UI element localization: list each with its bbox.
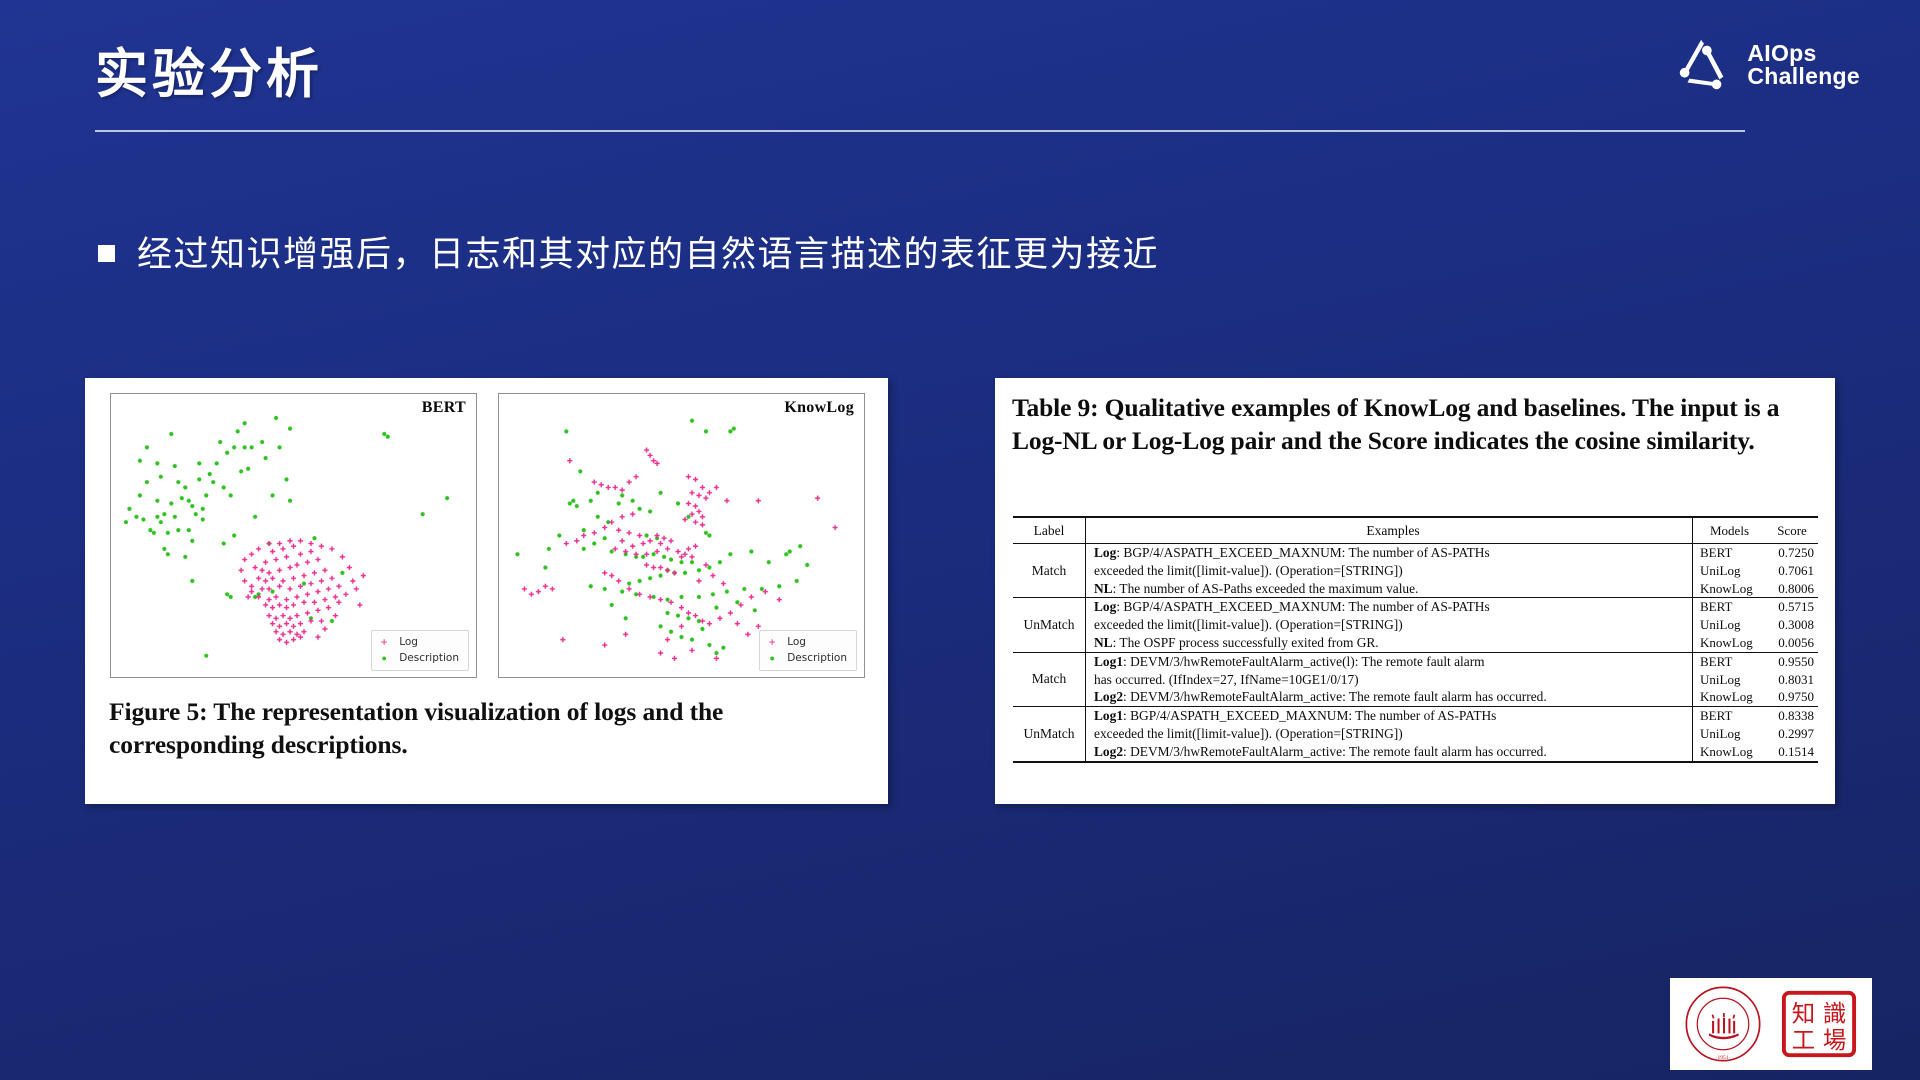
model-name: UniLog [1700, 562, 1766, 580]
table-row: UnMatchLog: BGP/4/ASPATH_EXCEED_MAXNUM: … [1013, 598, 1818, 652]
score-value: 0.2997 [1766, 725, 1814, 743]
example-line: NL: The OSPF process successfully exited… [1094, 634, 1692, 652]
knowledge-works-logo-icon: 知 識 工 場 [1780, 985, 1858, 1063]
cell-examples: Log: BGP/4/ASPATH_EXCEED_MAXNUM: The num… [1086, 598, 1693, 652]
slide-header: 实验分析 AIOps Challenge [0, 0, 1920, 150]
column-header-examples: Examples [1086, 517, 1693, 544]
score-value: 0.7061 [1766, 562, 1814, 580]
legend-label-log: Log [787, 636, 806, 648]
legend-label-description: Description [399, 652, 459, 664]
description-marker-icon: ● [378, 654, 390, 663]
table-header-row: Label Examples Models Score [1013, 517, 1818, 544]
aiops-challenge-logo: AIOps Challenge [1672, 34, 1860, 96]
cell-scores: 0.83380.29970.1514 [1766, 707, 1818, 762]
column-header-score: Score [1766, 517, 1818, 544]
page-title: 实验分析 [95, 32, 323, 108]
column-header-models: Models [1693, 517, 1767, 544]
cell-examples: Log1: BGP/4/ASPATH_EXCEED_MAXNUM: The nu… [1086, 707, 1693, 762]
legend-row-log: + Log [766, 635, 847, 649]
svg-text:知: 知 [1792, 1001, 1815, 1028]
svg-text:·1951·: ·1951· [1716, 1055, 1731, 1061]
aiops-wordmark-line1: AIOps [1747, 42, 1860, 65]
scatter-plot-bert: BERT + Log ● Description [110, 393, 477, 678]
aiops-wordmark: AIOps Challenge [1747, 42, 1860, 89]
description-marker-icon: ● [766, 654, 778, 663]
score-value: 0.7250 [1766, 544, 1814, 562]
cell-models: BERTUniLogKnowLog [1693, 707, 1767, 762]
cell-label: Match [1013, 652, 1086, 706]
column-header-label: Label [1013, 517, 1086, 544]
legend-row-description: ● Description [378, 651, 459, 665]
score-value: 0.5715 [1766, 598, 1814, 616]
cell-scores: 0.57150.30080.0056 [1766, 598, 1818, 652]
example-line: Log: BGP/4/ASPATH_EXCEED_MAXNUM: The num… [1094, 544, 1692, 562]
table-row: UnMatchLog1: BGP/4/ASPATH_EXCEED_MAXNUM:… [1013, 707, 1818, 762]
cell-scores: 0.72500.70610.8006 [1766, 544, 1818, 598]
model-name: UniLog [1700, 671, 1766, 689]
table-card: Table 9: Qualitative examples of KnowLog… [995, 378, 1835, 804]
score-value: 0.9750 [1766, 688, 1814, 706]
svg-text:工: 工 [1792, 1028, 1815, 1054]
example-line: Log1: DEVM/3/hwRemoteFaultAlarm_active(l… [1094, 653, 1692, 671]
legend-row-log: + Log [378, 635, 459, 649]
example-line: exceeded the limit([limit-value]). (Oper… [1094, 725, 1692, 743]
table-head: Label Examples Models Score [1013, 517, 1818, 544]
model-name: UniLog [1700, 725, 1766, 743]
bullet-text: 经过知识增强后，日志和其对应的自然语言描述的表征更为接近 [137, 226, 1159, 277]
title-divider [95, 130, 1745, 132]
model-name: KnowLog [1700, 634, 1766, 652]
log-marker-icon: + [378, 636, 390, 648]
cell-label: UnMatch [1013, 598, 1086, 652]
aiops-wordmark-line2: Challenge [1747, 65, 1860, 88]
score-value: 0.8006 [1766, 580, 1814, 598]
model-name: BERT [1700, 544, 1766, 562]
cell-examples: Log: BGP/4/ASPATH_EXCEED_MAXNUM: The num… [1086, 544, 1693, 598]
cell-examples: Log1: DEVM/3/hwRemoteFaultAlarm_active(l… [1086, 652, 1693, 706]
log-marker-icon: + [766, 636, 778, 648]
score-value: 0.0056 [1766, 634, 1814, 652]
model-name: KnowLog [1700, 688, 1766, 706]
qualitative-examples-table: Label Examples Models Score MatchLog: BG… [1013, 516, 1818, 763]
cell-models: BERTUniLogKnowLog [1693, 544, 1767, 598]
table-body: MatchLog: BGP/4/ASPATH_EXCEED_MAXNUM: Th… [1013, 544, 1818, 762]
cell-label: UnMatch [1013, 707, 1086, 762]
score-value: 0.8338 [1766, 707, 1814, 725]
cell-models: BERTUniLogKnowLog [1693, 652, 1767, 706]
model-name: BERT [1700, 707, 1766, 725]
scatter-plot-knowlog: KnowLog + Log ● Description [498, 393, 865, 678]
figure-caption: Figure 5: The representation visualizati… [109, 696, 869, 762]
legend-label-log: Log [399, 636, 418, 648]
model-name: KnowLog [1700, 580, 1766, 598]
bullet-row: 经过知识增强后，日志和其对应的自然语言描述的表征更为接近 [98, 226, 1159, 277]
score-value: 0.8031 [1766, 671, 1814, 689]
cell-label: Match [1013, 544, 1086, 598]
legend-label-description: Description [787, 652, 847, 664]
footer-logos: ·1951· 知 識 工 場 [1670, 978, 1872, 1070]
donghua-university-seal-icon: ·1951· [1684, 985, 1762, 1063]
cell-models: BERTUniLogKnowLog [1693, 598, 1767, 652]
example-line: NL: The number of AS-Paths exceeded the … [1094, 580, 1692, 598]
example-line: exceeded the limit([limit-value]). (Oper… [1094, 562, 1692, 580]
model-name: KnowLog [1700, 743, 1766, 761]
scatter-plots-row: BERT + Log ● Description KnowLog + Log [110, 393, 865, 678]
model-name: BERT [1700, 653, 1766, 671]
table-row: MatchLog: BGP/4/ASPATH_EXCEED_MAXNUM: Th… [1013, 544, 1818, 598]
table-caption: Table 9: Qualitative examples of KnowLog… [1012, 391, 1822, 457]
svg-text:識: 識 [1823, 1001, 1846, 1028]
legend-row-description: ● Description [766, 651, 847, 665]
plot-legend-knowlog: + Log ● Description [759, 630, 857, 671]
example-line: Log1: BGP/4/ASPATH_EXCEED_MAXNUM: The nu… [1094, 707, 1692, 725]
plot-title-bert: BERT [422, 399, 466, 417]
model-name: UniLog [1700, 616, 1766, 634]
svg-text:場: 場 [1823, 1027, 1846, 1054]
score-value: 0.3008 [1766, 616, 1814, 634]
example-line: has occurred. (IfIndex=27, IfName=10GE1/… [1094, 671, 1692, 689]
aiops-triangle-icon [1672, 34, 1734, 96]
example-line: exceeded the limit([limit-value]). (Oper… [1094, 616, 1692, 634]
example-line: Log2: DEVM/3/hwRemoteFaultAlarm_active: … [1094, 688, 1692, 706]
score-value: 0.9550 [1766, 653, 1814, 671]
figure-card: BERT + Log ● Description KnowLog + Log [85, 378, 888, 804]
cell-scores: 0.95500.80310.9750 [1766, 652, 1818, 706]
example-line: Log2: DEVM/3/hwRemoteFaultAlarm_active: … [1094, 743, 1692, 761]
example-line: Log: BGP/4/ASPATH_EXCEED_MAXNUM: The num… [1094, 598, 1692, 616]
model-name: BERT [1700, 598, 1766, 616]
plot-title-knowlog: KnowLog [784, 399, 854, 417]
square-bullet-icon [98, 245, 115, 262]
score-value: 0.1514 [1766, 743, 1814, 761]
table-row: MatchLog1: DEVM/3/hwRemoteFaultAlarm_act… [1013, 652, 1818, 706]
plot-legend-bert: + Log ● Description [371, 630, 469, 671]
